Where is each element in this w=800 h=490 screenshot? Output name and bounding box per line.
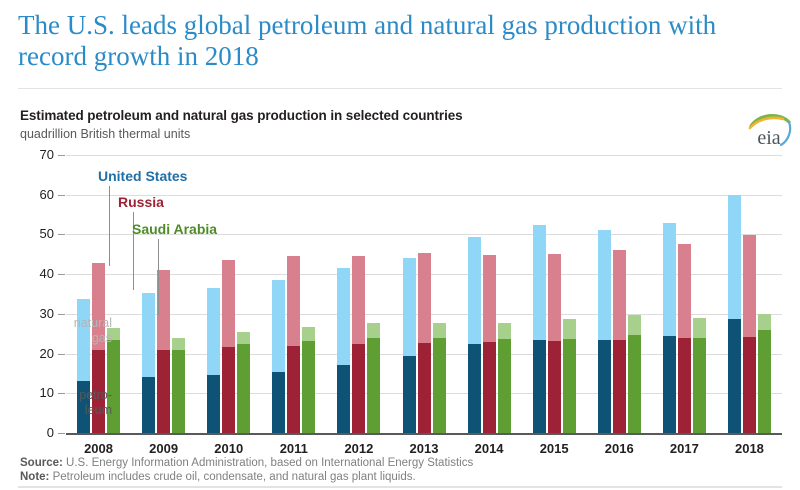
bar-segment <box>743 235 756 336</box>
bar-segment <box>237 332 250 345</box>
bar-segment <box>563 319 576 338</box>
bar-segment <box>758 314 771 330</box>
x-axis-tick-label: 2008 <box>69 441 129 456</box>
y-axis-tick-label: 0 <box>14 425 54 440</box>
bar-segment <box>533 340 546 433</box>
bar-segment <box>728 195 741 319</box>
y-axis-tick-label: 30 <box>14 306 54 321</box>
bar-segment <box>367 323 380 339</box>
x-axis-tick-label: 2014 <box>459 441 519 456</box>
bar-segment <box>678 338 691 433</box>
bar-segment <box>237 344 250 433</box>
bar-segment <box>663 223 676 336</box>
bar-segment <box>352 344 365 433</box>
x-axis-tick-label: 2015 <box>524 441 584 456</box>
leader-line-saudi-arabia <box>158 239 159 315</box>
bar-segment <box>548 341 561 433</box>
bar-segment <box>563 339 576 433</box>
footer-source-label: Source: <box>20 457 63 469</box>
bar-segment <box>613 250 626 339</box>
series-label-russia: Russia <box>118 194 164 210</box>
annotation-natural-gas-line2: gas <box>52 331 112 346</box>
x-axis-tick-label: 2016 <box>589 441 649 456</box>
series-label-saudi-arabia: Saudi Arabia <box>132 221 217 237</box>
bar-segment <box>157 350 170 433</box>
y-axis-tick-label: 70 <box>14 147 54 162</box>
bar-segment <box>403 258 416 356</box>
bar-segment <box>693 318 706 338</box>
bar-segment <box>418 253 431 343</box>
bar-segment <box>613 340 626 433</box>
y-axis-tick-mark <box>58 234 65 235</box>
series-label-united-states: United States <box>98 168 187 184</box>
y-axis-tick-label: 50 <box>14 226 54 241</box>
bar-segment <box>483 255 496 342</box>
chart-x-axis-line <box>66 433 782 435</box>
x-axis-tick-label: 2012 <box>329 441 389 456</box>
bar-segment <box>533 225 546 340</box>
annotation-petroleum-line1: petro- <box>52 388 112 403</box>
chart-area: 010203040506070 200820092010201120122013… <box>0 0 800 490</box>
bar-segment <box>498 339 511 433</box>
bar-segment <box>287 256 300 345</box>
bar-segment <box>172 338 185 350</box>
y-axis-tick-label: 40 <box>14 266 54 281</box>
x-axis-tick-label: 2018 <box>719 441 779 456</box>
annotation-petroleum-line2: leum <box>52 403 112 418</box>
bar-segment <box>483 342 496 433</box>
bar-segment <box>272 280 285 372</box>
footer-divider <box>18 486 782 488</box>
footer-note-label: Note: <box>20 471 49 483</box>
x-axis-tick-label: 2017 <box>654 441 714 456</box>
bar-segment <box>352 256 365 344</box>
bar-segment <box>628 335 641 433</box>
bar-segment <box>142 293 155 377</box>
bar-segment <box>172 350 185 433</box>
y-axis-tick-mark <box>58 354 65 355</box>
bar-segment <box>222 347 235 433</box>
bar-segment <box>302 341 315 433</box>
bar-segment <box>548 254 561 341</box>
bar-segment <box>272 372 285 433</box>
x-axis-tick-label: 2009 <box>134 441 194 456</box>
bar-segment <box>222 260 235 347</box>
x-axis-tick-label: 2011 <box>264 441 324 456</box>
bar-segment <box>498 323 511 339</box>
footer-source: Source: U.S. Energy Information Administ… <box>20 457 473 469</box>
bar-segment <box>758 330 771 433</box>
bar-segment <box>367 338 380 433</box>
bar-segment <box>337 268 350 365</box>
bar-segment <box>743 337 756 434</box>
x-axis-tick-label: 2010 <box>199 441 259 456</box>
bar-segment <box>628 315 641 335</box>
bar-segment <box>337 365 350 433</box>
leader-line-united-states <box>109 186 110 266</box>
bar-segment <box>693 338 706 433</box>
bar-segment <box>433 323 446 338</box>
y-axis-tick-label: 60 <box>14 187 54 202</box>
bar-segment <box>207 288 220 375</box>
bar-segment <box>207 375 220 433</box>
chart-bars <box>66 155 782 433</box>
annotation-petroleum: petro- leum <box>52 388 112 418</box>
bar-segment <box>142 377 155 433</box>
y-axis-tick-label: 10 <box>14 385 54 400</box>
footer-note-text: Petroleum includes crude oil, condensate… <box>49 471 415 483</box>
bar-segment <box>433 338 446 433</box>
bar-segment <box>107 340 120 433</box>
bar-segment <box>468 237 481 344</box>
y-axis-tick-mark <box>58 314 65 315</box>
bar-segment <box>157 270 170 349</box>
bar-segment <box>598 340 611 433</box>
footer-note: Note: Petroleum includes crude oil, cond… <box>20 471 416 483</box>
annotation-natural-gas: natural gas <box>52 316 112 346</box>
bar-segment <box>287 346 300 433</box>
y-axis-tick-mark <box>58 195 65 196</box>
bar-segment <box>728 319 741 433</box>
y-axis-tick-mark <box>58 274 65 275</box>
bar-segment <box>302 327 315 341</box>
annotation-natural-gas-line1: natural <box>52 316 112 331</box>
x-axis-tick-label: 2013 <box>394 441 454 456</box>
y-axis-tick-mark <box>58 433 65 434</box>
bar-segment <box>468 344 481 433</box>
y-axis-tick-mark <box>58 155 65 156</box>
footer-source-text: U.S. Energy Information Administration, … <box>63 457 473 469</box>
bar-segment <box>418 343 431 433</box>
bar-segment <box>678 244 691 339</box>
bar-segment <box>663 336 676 433</box>
bar-segment <box>598 230 611 340</box>
bar-segment <box>403 356 416 433</box>
y-axis-tick-label: 20 <box>14 346 54 361</box>
